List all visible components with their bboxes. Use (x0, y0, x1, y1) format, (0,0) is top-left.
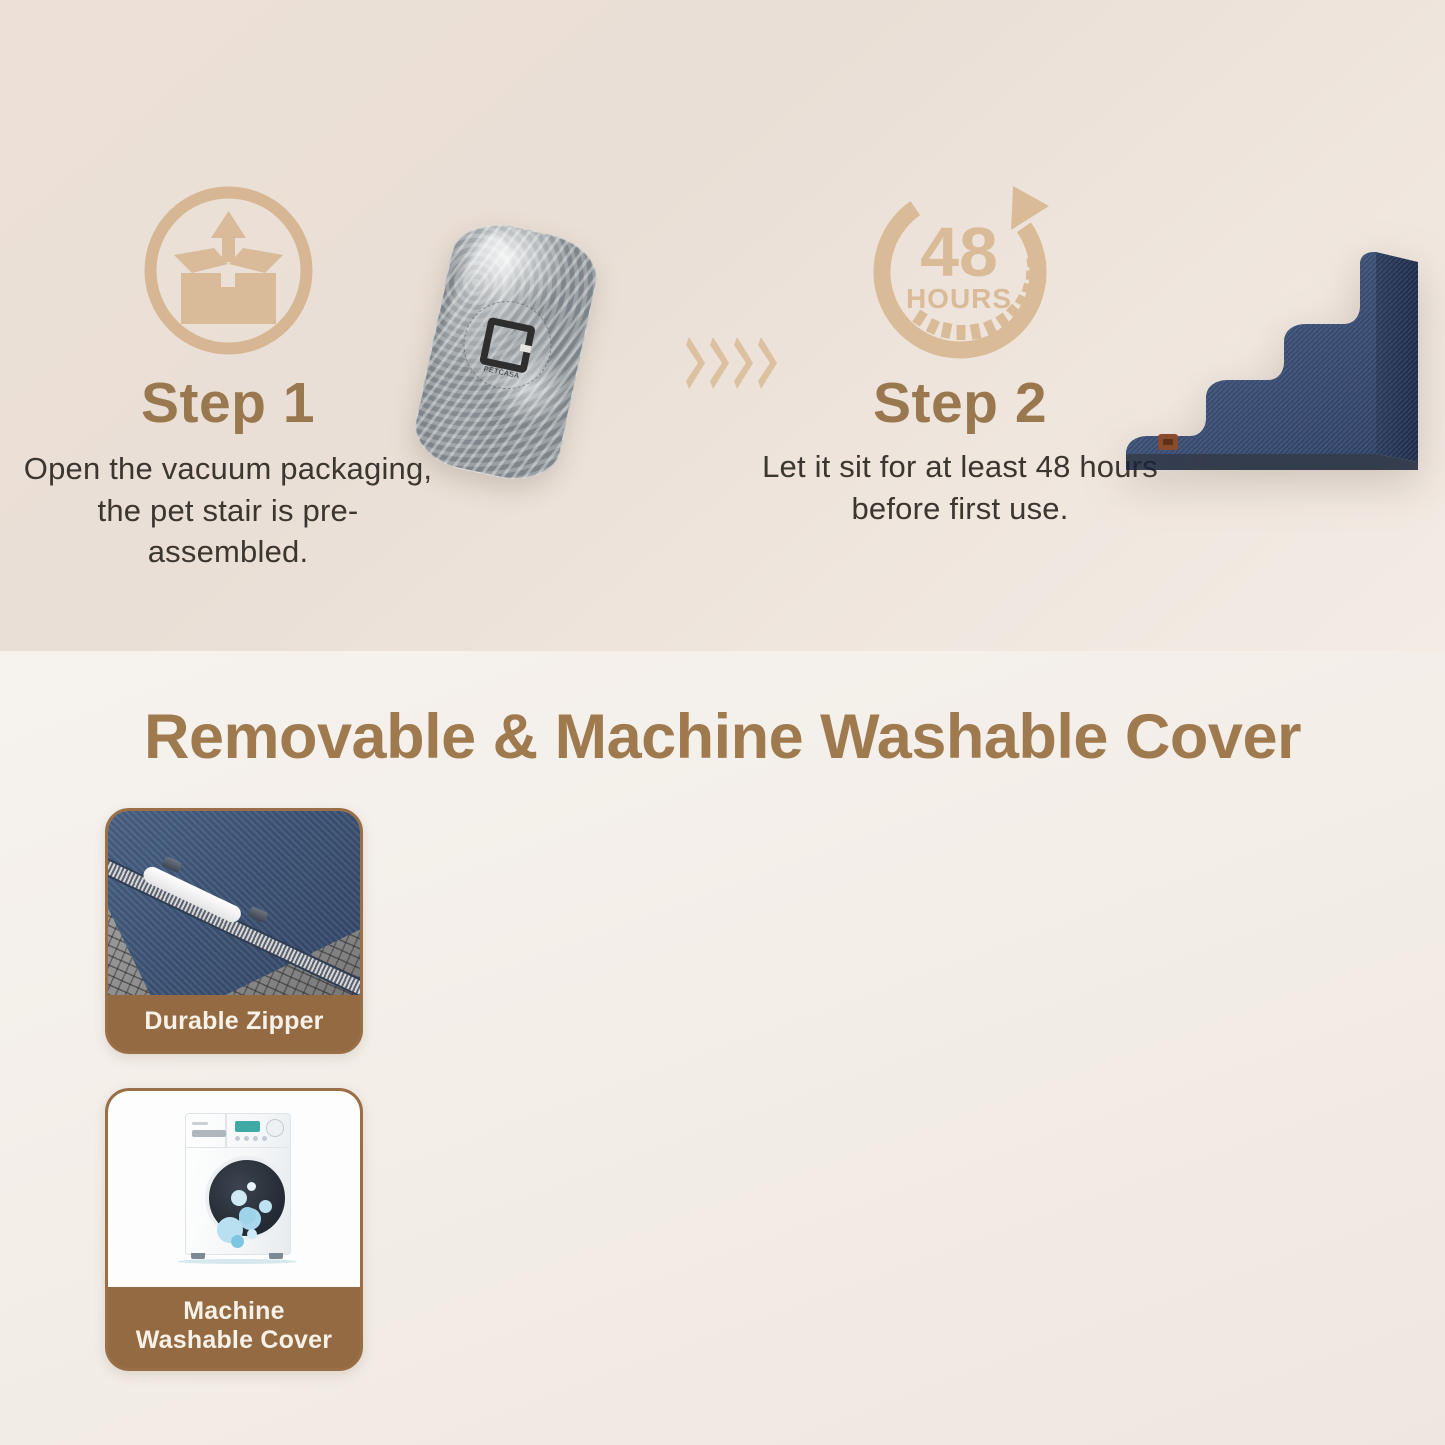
feature-card-label: MachineWashable Cover (108, 1287, 360, 1368)
feature-card-label: Durable Zipper (108, 995, 360, 1051)
section-heading: Removable & Machine Washable Cover (0, 701, 1445, 773)
step-1-title: Step 1 (18, 375, 438, 432)
feature-card-machine-washable[interactable]: MachineWashable Cover (105, 1088, 363, 1371)
open-box-icon (18, 168, 438, 373)
setup-steps-section: Step 1 Open the vacuum packaging, the pe… (0, 0, 1445, 651)
svg-text:HOURS: HOURS (905, 283, 1011, 314)
feature-card-durable-zipper[interactable]: Durable Zipper (105, 808, 363, 1054)
step-1-description: Open the vacuum packaging, the pet stair… (18, 448, 438, 573)
step-2-description: Let it sit for at least 48 hours before … (760, 446, 1160, 529)
badge-number: 48 (920, 213, 998, 291)
pet-stair-product-photo (1118, 248, 1430, 478)
step-1-block: Step 1 Open the vacuum packaging, the pe… (18, 168, 438, 573)
washable-cover-section: Removable & Machine Washable Cover Durab… (0, 651, 1445, 1445)
step-2-title: Step 2 (760, 375, 1160, 432)
feature-card-list: Durable Zipper (105, 808, 357, 1405)
zipper-closeup-photo (108, 811, 360, 995)
step-2-block: 48 HOURS Step 2 Let it sit for at least … (760, 168, 1160, 529)
48-hours-icon: 48 HOURS (760, 168, 1160, 373)
product-infographic: Step 1 Open the vacuum packaging, the pe… (0, 0, 1445, 1445)
washing-machine-icon (108, 1091, 360, 1287)
